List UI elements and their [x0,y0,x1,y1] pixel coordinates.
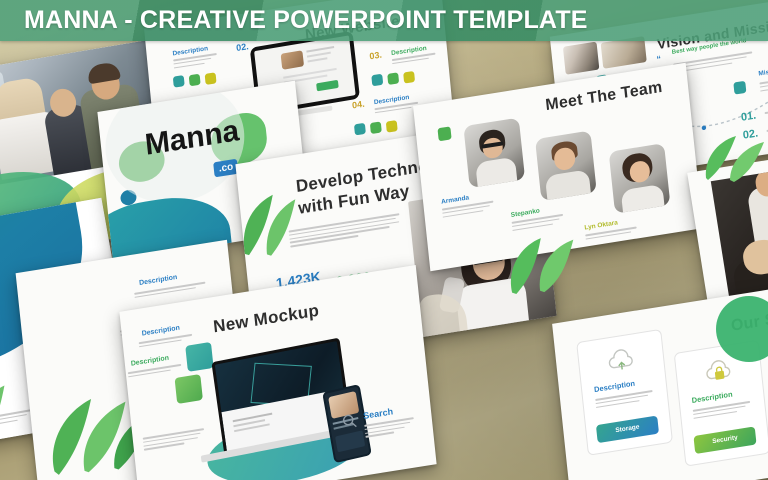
team-photo-3 [609,143,671,214]
icon-square-green [189,74,201,87]
item-num-02: 02. [236,41,249,53]
cloud-lock-icon [702,357,736,386]
icon-square-yellow [205,72,217,85]
item-num-03: 03. [369,50,382,62]
search-icon [341,412,358,430]
mission-num-01: 01. [740,110,756,124]
slide-title: New Mockup [212,301,320,338]
page-title: MANNA - CREATIVE POWERPOINT TEMPLATE [24,6,588,35]
icon-square-teal [371,74,383,87]
title-banner: MANNA - CREATIVE POWERPOINT TEMPLATE [0,0,768,41]
description-label-blue: Description [139,274,178,287]
team-photo-1 [463,118,525,189]
quote-mark: “ [656,54,661,65]
slide-title: Meet The Team [545,79,664,115]
icon-square-yellow [386,120,398,133]
security-button-label: Security [693,426,756,454]
storage-button-label: Storage [596,416,659,444]
leaf-icon [700,130,768,182]
icon-square-teal [173,75,185,88]
leaf-icon [496,222,590,299]
cloud-icon [604,346,638,375]
mockup-scene: New Website Description 02. [0,0,768,480]
team-photo-2 [535,130,597,201]
leaf-icon [235,179,304,261]
service-card-1[interactable]: Description Storage [576,329,673,456]
icon-square-teal [733,81,746,95]
storage-button[interactable]: Storage [596,416,659,444]
security-button[interactable]: Security [693,426,756,454]
card-label: Description [594,379,636,394]
icon-tile-green [175,374,203,404]
icon-square-yellow [403,71,415,84]
icon-tile-teal [185,342,213,372]
card-label: Description [691,390,733,405]
icon-square-green [437,126,451,141]
icon-square-green [370,121,382,134]
icon-square-green [387,72,399,85]
item-num-04: 04. [352,99,365,111]
icon-square-teal [354,123,366,136]
search-label: Search [363,406,394,421]
